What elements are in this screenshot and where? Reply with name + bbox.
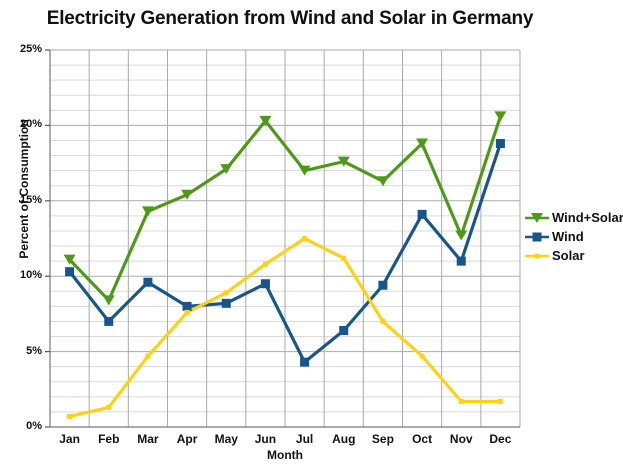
vertical-gridlines — [89, 50, 481, 427]
chart-container: Electricity Generation from Wind and Sol… — [0, 0, 623, 467]
legend-label: Wind — [552, 229, 584, 244]
y-tick-label: 10% — [0, 269, 42, 281]
legend-marker-icon — [524, 230, 550, 244]
legend-marker-icon — [524, 211, 550, 225]
y-tick-label: 25% — [0, 43, 42, 55]
legend-label: Wind+Solar — [552, 210, 623, 225]
legend-item[interactable]: Wind — [524, 227, 623, 246]
y-tick-label: 15% — [0, 194, 42, 206]
x-tick-label: Dec — [476, 432, 524, 446]
chart-legend: Wind+SolarWindSolar — [524, 208, 623, 265]
y-tick-label: 0% — [0, 420, 42, 432]
legend-item[interactable]: Wind+Solar — [524, 208, 623, 227]
legend-marker-icon — [524, 249, 550, 263]
legend-item[interactable]: Solar — [524, 246, 623, 265]
axis-lines — [45, 50, 520, 427]
y-tick-label: 5% — [0, 345, 42, 357]
legend-label: Solar — [552, 248, 585, 263]
y-tick-label: 20% — [0, 118, 42, 130]
